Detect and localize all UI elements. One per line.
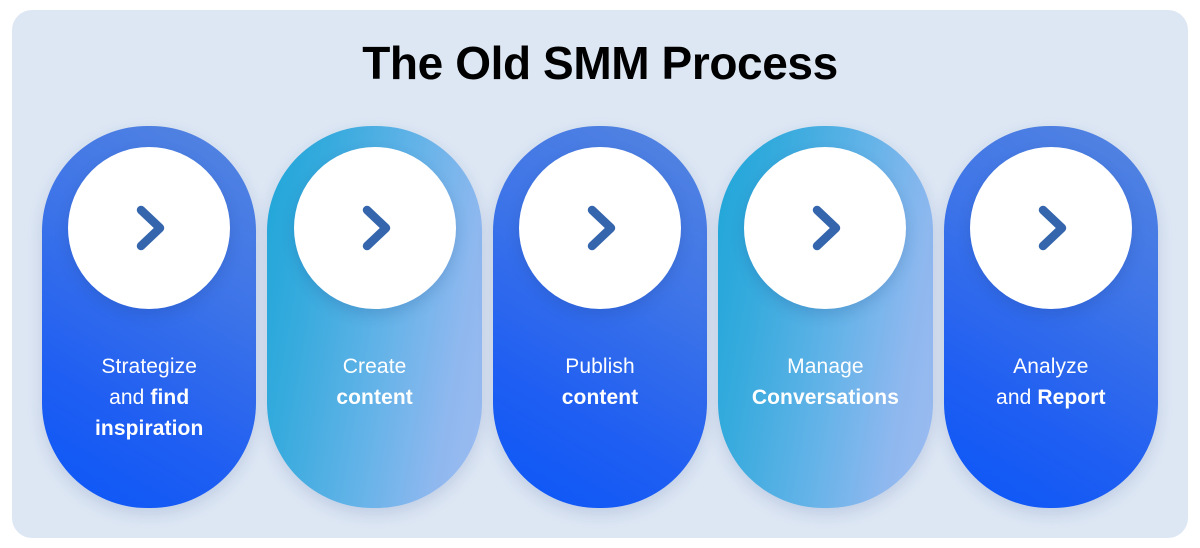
process-step-card-analyze-report[interactable]: Analyzeand Report [944,126,1158,508]
step-icon-circle [294,147,456,309]
infographic-panel: The Old SMM Process Strategizeand findin… [12,10,1188,538]
step-label-line-2-strong: Conversations [752,386,899,409]
process-step-list: Strategizeand findinspirationCreateconte… [42,126,1158,508]
process-step-card-manage-conversations[interactable]: ManageConversations [718,126,932,508]
process-step-card-strategize[interactable]: Strategizeand findinspiration [42,126,256,508]
chevron-right-icon [794,197,856,259]
step-label: ManageConversations [726,351,924,413]
step-label-line-2-strong: content [336,386,413,409]
process-step-card-create-content[interactable]: Createcontent [267,126,481,508]
step-label-line-2-strong: content [562,386,639,409]
chevron-right-icon [344,197,406,259]
step-label: Strategizeand findinspiration [50,351,248,444]
step-label-line-2-regular: and [109,386,150,409]
chevron-right-icon [1020,197,1082,259]
step-icon-circle [744,147,906,309]
page-title: The Old SMM Process [362,10,838,90]
step-label: Createcontent [275,351,473,413]
step-label-line-2: content [275,382,473,413]
step-label-line-1: Publish [501,351,699,382]
step-label: Analyzeand Report [952,351,1150,413]
step-label-line-1: Analyze [952,351,1150,382]
step-icon-circle [68,147,230,309]
chevron-right-icon [118,197,180,259]
step-icon-circle [970,147,1132,309]
step-label-line-2: and find [50,382,248,413]
step-label-line-1: Create [275,351,473,382]
process-step-card-publish-content[interactable]: Publishcontent [493,126,707,508]
chevron-right-icon [569,197,631,259]
step-label-line-1: Strategize [50,351,248,382]
step-label-line-2: and Report [952,382,1150,413]
infographic-root: The Old SMM Process Strategizeand findin… [0,0,1200,548]
step-label-line-1: Manage [726,351,924,382]
step-label-line-2-strong: find [150,386,189,409]
step-icon-circle [519,147,681,309]
step-label-line-2-strong: Report [1037,386,1105,409]
step-label-line-2: Conversations [726,382,924,413]
step-label-line-3-strong: inspiration [50,413,248,444]
step-label-line-2: content [501,382,699,413]
step-label-line-2-regular: and [996,386,1037,409]
step-label: Publishcontent [501,351,699,413]
